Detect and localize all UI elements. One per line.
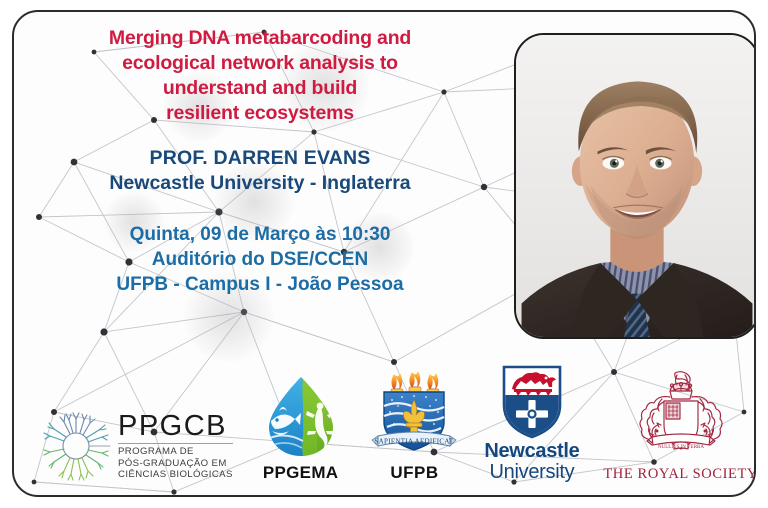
ppgcb-subtitle-line-2: PÓS-GRADUAÇÃO EM bbox=[118, 458, 233, 469]
ppgcb-acronym: PPGCB bbox=[118, 411, 233, 444]
logo-strip: PPGCB PROGRAMA DE PÓS-GRADUAÇÃO EM CIÊNC… bbox=[28, 359, 756, 487]
newcastle-wordmark: Newcastle University bbox=[484, 441, 579, 483]
event-details-block: Quinta, 09 de Março às 10:30 Auditório d… bbox=[26, 222, 494, 297]
ufpb-torch-crest-icon: SAPIENTIA AEDIFICAT bbox=[368, 370, 460, 462]
ppgcb-subtitle-line-1: PROGRAMA DE bbox=[118, 446, 233, 457]
logo-ppgema: PPGEMA bbox=[257, 373, 345, 483]
title-line-1: Merging DNA metabarcoding and bbox=[36, 26, 484, 51]
ppgcb-wordmark: PPGCB PROGRAMA DE PÓS-GRADUAÇÃO EM CIÊNC… bbox=[118, 411, 233, 480]
royal-society-crest-icon: NULLIUS IN VERBA bbox=[632, 369, 730, 465]
speaker-photo bbox=[514, 33, 756, 339]
ufpb-motto: SAPIENTIA AEDIFICAT bbox=[375, 438, 454, 446]
title-line-2: ecological network analysis to bbox=[36, 51, 484, 76]
poster-frame: Merging DNA metabarcoding and ecological… bbox=[12, 10, 756, 497]
speaker-affiliation: Newcastle University - Inglaterra bbox=[26, 171, 494, 196]
title-line-4: resilient ecosystems bbox=[36, 101, 484, 126]
poster-title: Merging DNA metabarcoding and ecological… bbox=[26, 26, 494, 126]
ppgcb-subtitle: PROGRAMA DE PÓS-GRADUAÇÃO EM CIÊNCIAS BI… bbox=[118, 444, 233, 480]
event-datetime: Quinta, 09 de Março às 10:30 bbox=[26, 222, 494, 247]
speaker-portrait-graphic bbox=[516, 35, 756, 337]
water-droplet-fish-lizard-icon bbox=[257, 373, 345, 461]
title-line-3: understand and build bbox=[36, 76, 484, 101]
event-location: UFPB - Campus I - João Pessoa bbox=[26, 272, 494, 297]
ppgcb-subtitle-line-3: CIÊNCIAS BIOLÓGICAS bbox=[118, 469, 233, 480]
event-venue: Auditório do DSE/CCEN bbox=[26, 247, 494, 272]
phylogenetic-tree-circle-icon bbox=[40, 409, 112, 483]
poster-text-column: Merging DNA metabarcoding and ecological… bbox=[26, 26, 494, 297]
newcastle-shield-icon bbox=[500, 365, 564, 439]
logo-royal-society: NULLIUS IN VERBA THE ROYAL SOCIETY bbox=[603, 369, 756, 483]
logo-ufpb: SAPIENTIA AEDIFICAT UFPB bbox=[368, 370, 460, 483]
ufpb-label: UFPB bbox=[390, 463, 438, 483]
speaker-name: PROF. DARREN EVANS bbox=[26, 146, 494, 171]
newcastle-label-line-1: Newcastle bbox=[484, 441, 579, 462]
logo-newcastle: Newcastle University bbox=[484, 365, 579, 483]
newcastle-label-line-2: University bbox=[484, 462, 579, 483]
logo-ppgcb: PPGCB PROGRAMA DE PÓS-GRADUAÇÃO EM CIÊNC… bbox=[40, 409, 233, 483]
ppgema-label: PPGEMA bbox=[263, 463, 338, 483]
svg-text:NULLIUS IN VERBA: NULLIUS IN VERBA bbox=[658, 445, 704, 450]
event-poster: Merging DNA metabarcoding and ecological… bbox=[0, 0, 768, 508]
speaker-block: PROF. DARREN EVANS Newcastle University … bbox=[26, 146, 494, 196]
royal-society-label: THE ROYAL SOCIETY bbox=[603, 466, 756, 483]
